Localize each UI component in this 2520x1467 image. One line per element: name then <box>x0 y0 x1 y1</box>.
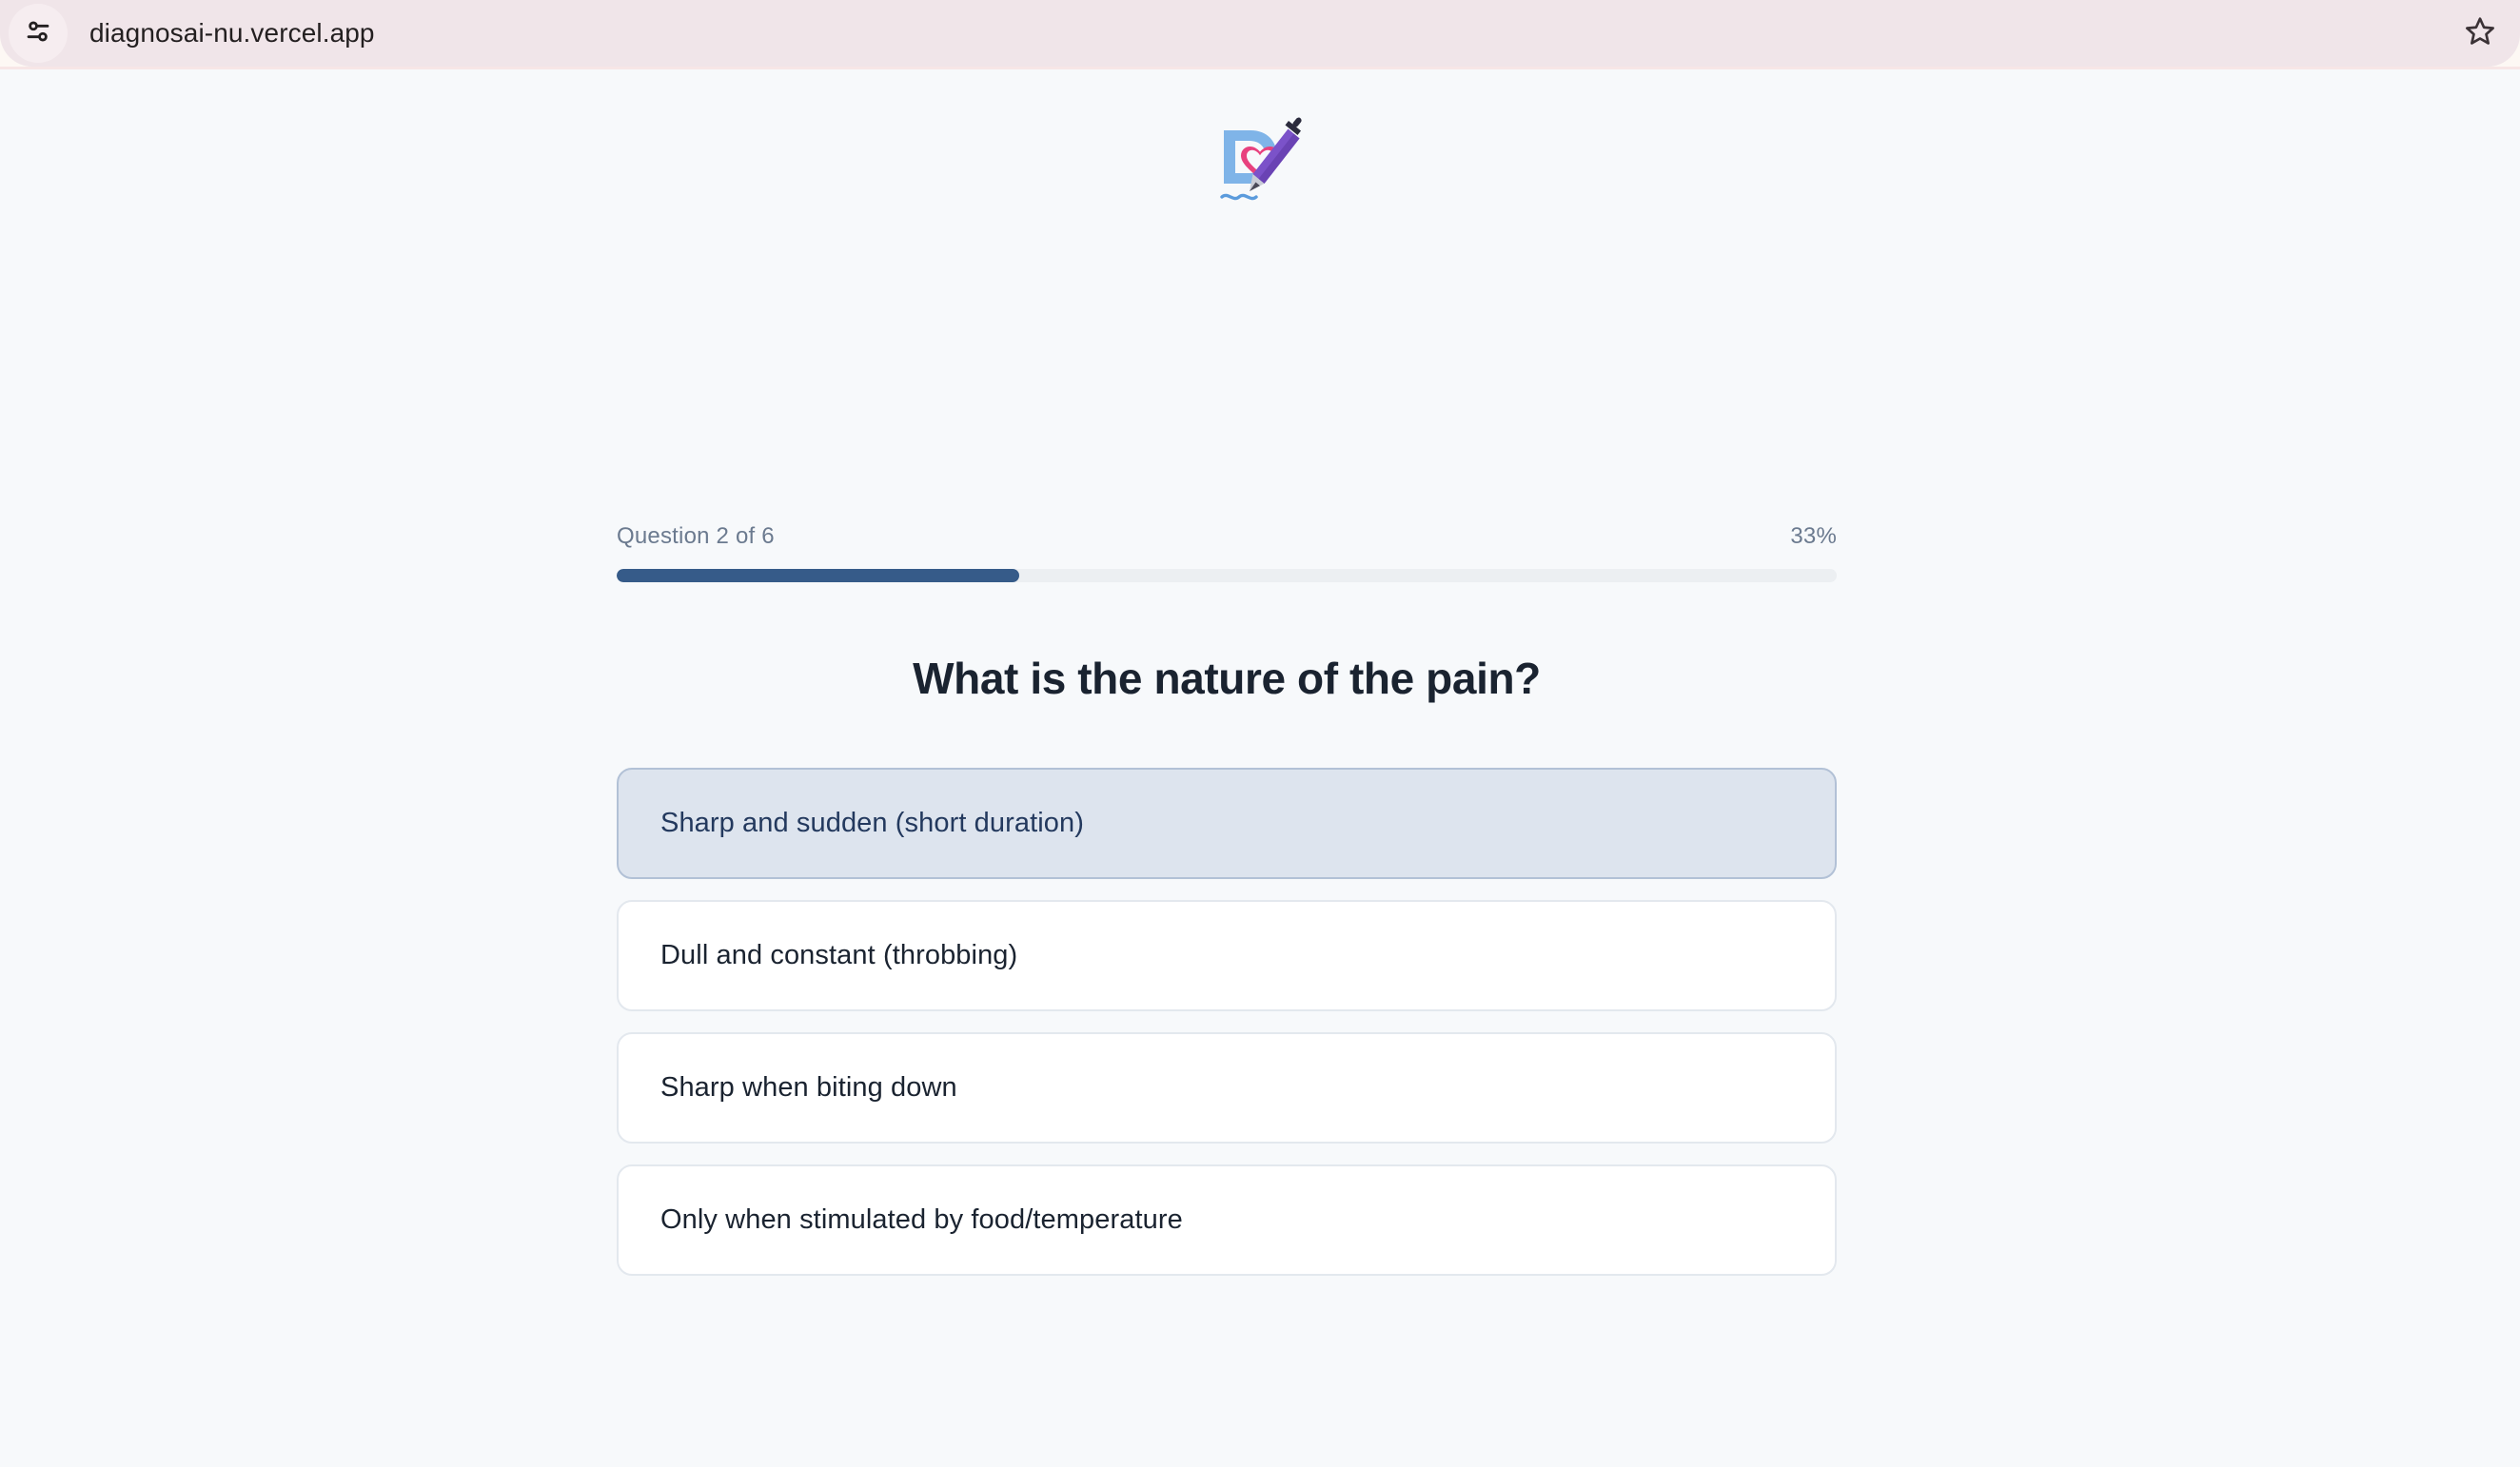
answer-option-label: Sharp when biting down <box>660 1072 957 1104</box>
url-bar[interactable]: diagnosai-nu.vercel.app <box>0 0 2520 67</box>
bookmark-button[interactable] <box>2453 7 2507 60</box>
answer-option-3[interactable]: Sharp when biting down <box>617 1032 1837 1144</box>
tune-icon <box>22 15 54 52</box>
url-text[interactable]: diagnosai-nu.vercel.app <box>89 18 375 49</box>
progress-bar-fill <box>617 569 1019 582</box>
site-info-button[interactable] <box>9 4 68 63</box>
answer-option-label: Only when stimulated by food/temperature <box>660 1204 1183 1236</box>
answer-option-label: Sharp and sudden (short duration) <box>660 808 1084 839</box>
progress-bar-track <box>617 569 1837 582</box>
answer-option-label: Dull and constant (throbbing) <box>660 940 1017 971</box>
answer-option-2[interactable]: Dull and constant (throbbing) <box>617 900 1837 1011</box>
page-body: Question 2 of 6 33% What is the nature o… <box>0 69 2520 1467</box>
diagnosai-logo <box>1207 111 1313 210</box>
logo-container <box>0 111 2520 210</box>
answer-option-1[interactable]: Sharp and sudden (short duration) <box>617 768 1837 879</box>
answer-options-list: Sharp and sudden (short duration) Dull a… <box>617 768 1837 1276</box>
star-outline-icon <box>2464 15 2496 52</box>
answer-option-4[interactable]: Only when stimulated by food/temperature <box>617 1164 1837 1276</box>
progress-header: Question 2 of 6 33% <box>617 523 1837 550</box>
progress-percent-label: 33% <box>1790 523 1837 550</box>
question-counter-label: Question 2 of 6 <box>617 523 775 550</box>
question-title: What is the nature of the pain? <box>617 653 1837 704</box>
questionnaire-card: Question 2 of 6 33% What is the nature o… <box>617 523 1837 1276</box>
browser-toolbar: diagnosai-nu.vercel.app <box>0 0 2520 69</box>
